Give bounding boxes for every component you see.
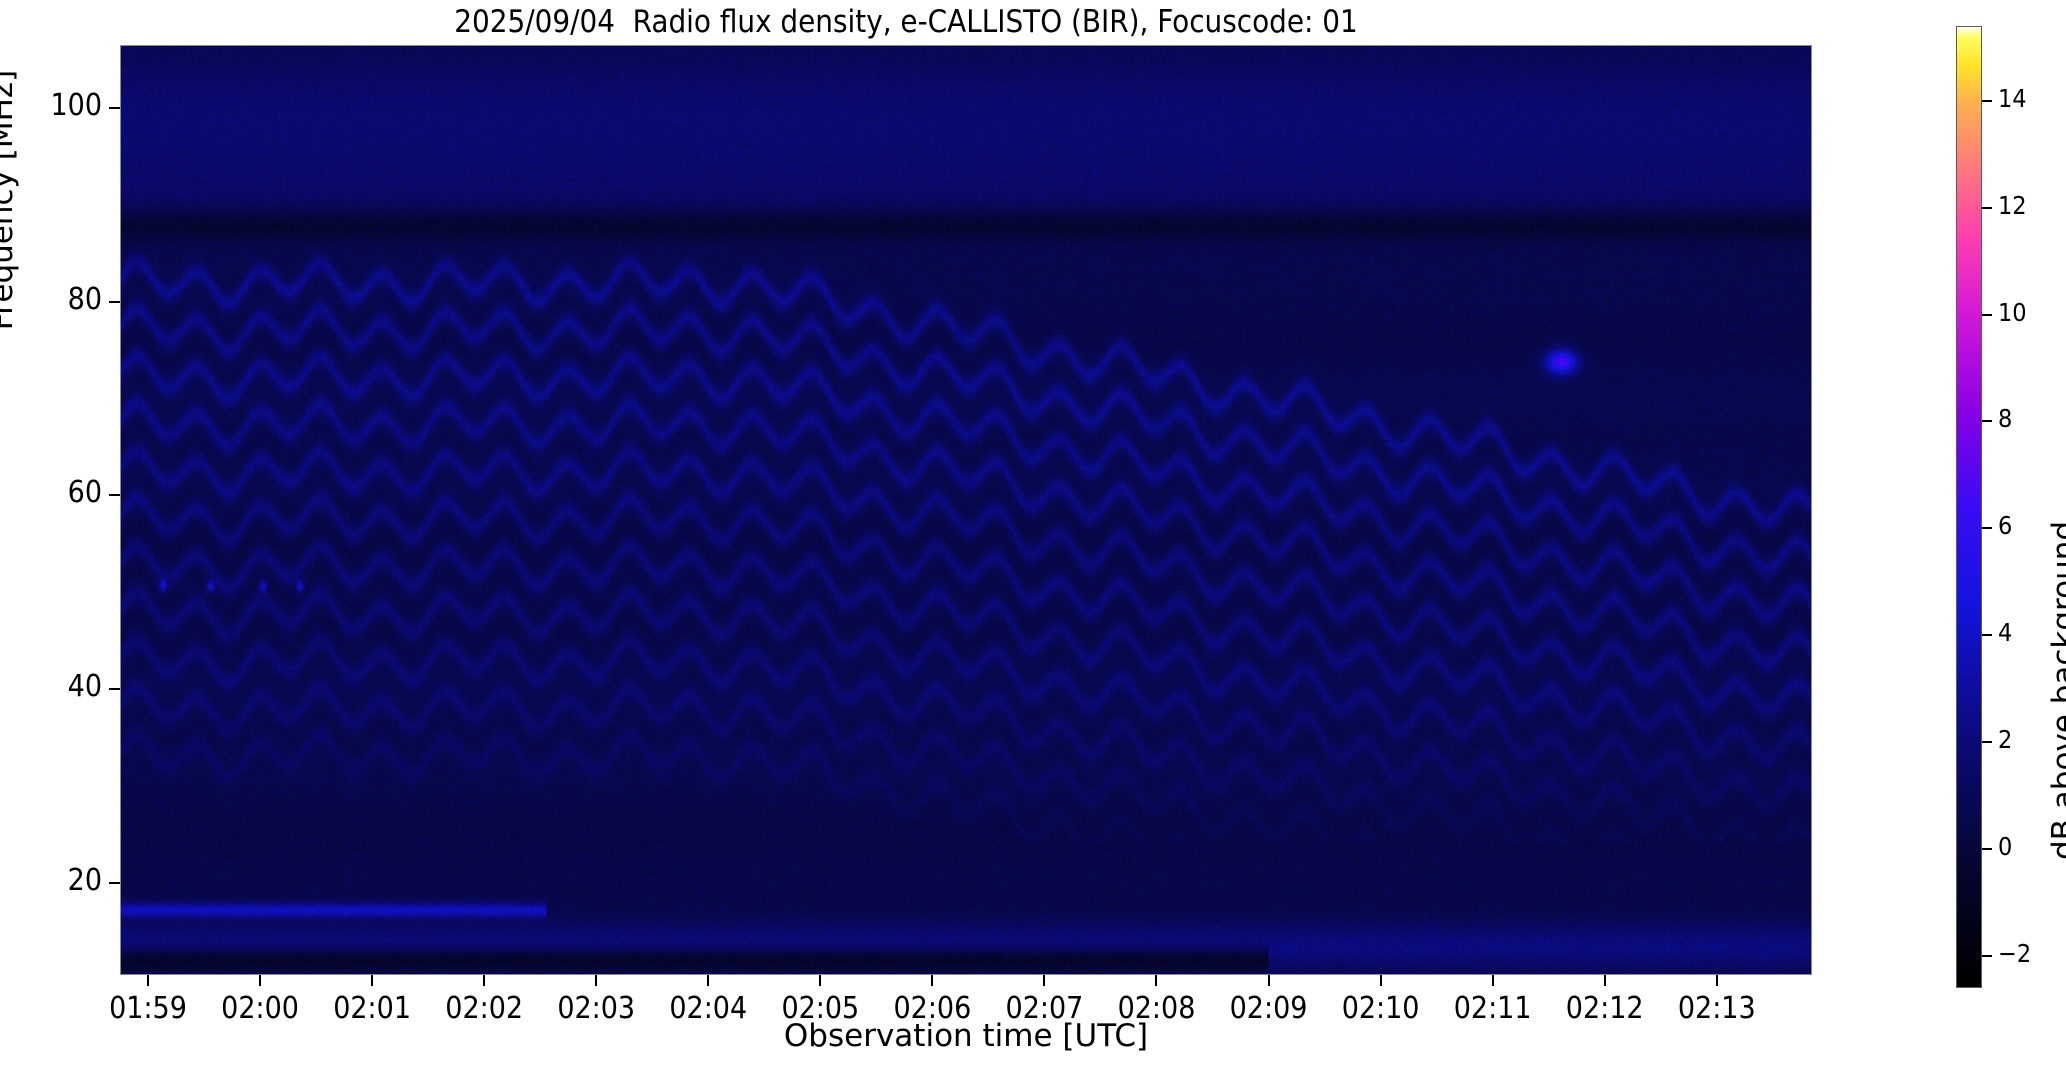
x-tick-mark	[595, 975, 597, 986]
colorbar-tick-mark	[1982, 207, 1992, 209]
colorbar-gradient	[1956, 26, 1982, 988]
x-tick-mark	[819, 975, 821, 986]
colorbar-label: dB above background	[2046, 0, 2066, 860]
x-tick-mark	[1155, 975, 1157, 986]
colorbar[interactable]	[1956, 26, 1982, 988]
y-tick-mark	[109, 301, 120, 303]
colorbar-tick-label: 6	[1998, 511, 2012, 540]
y-tick-mark	[109, 494, 120, 496]
colorbar-tick-mark	[1982, 634, 1992, 636]
y-tick-mark	[109, 107, 120, 109]
x-tick-mark	[1268, 975, 1270, 986]
colorbar-tick-label: 0	[1998, 832, 2012, 861]
colorbar-tick-label: 10	[1998, 298, 2027, 327]
colorbar-tick-mark	[1982, 100, 1992, 102]
x-tick-mark	[1380, 975, 1382, 986]
x-tick-mark	[707, 975, 709, 986]
page-title: 2025/09/04 Radio flux density, e-CALLIST…	[0, 4, 1812, 40]
colorbar-tick-mark	[1982, 527, 1992, 529]
x-tick-mark	[483, 975, 485, 986]
colorbar-tick-mark	[1982, 420, 1992, 422]
spectrogram-image	[121, 46, 1811, 974]
figure-root: 2025/09/04 Radio flux density, e-CALLIST…	[0, 0, 2066, 1067]
x-tick-mark	[371, 975, 373, 986]
colorbar-tick-mark	[1982, 955, 1992, 957]
x-tick-mark	[931, 975, 933, 986]
x-tick-mark	[1716, 975, 1718, 986]
spectrogram-axes[interactable]	[120, 45, 1812, 975]
x-tick-mark	[1492, 975, 1494, 986]
y-tick-label: 40	[0, 669, 102, 704]
x-tick-mark	[1604, 975, 1606, 986]
colorbar-tick-mark	[1982, 848, 1992, 850]
colorbar-tick-mark	[1982, 741, 1992, 743]
y-tick-label: 20	[0, 863, 102, 898]
colorbar-tick-label: −2	[1998, 939, 2031, 968]
x-axis-label: Observation time [UTC]	[120, 1018, 1812, 1054]
y-tick-label: 60	[0, 475, 102, 510]
y-tick-mark	[109, 882, 120, 884]
colorbar-tick-label: 12	[1998, 191, 2027, 220]
x-tick-mark	[259, 975, 261, 986]
x-tick-mark	[147, 975, 149, 986]
colorbar-tick-mark	[1982, 314, 1992, 316]
colorbar-tick-label: 4	[1998, 618, 2012, 647]
x-tick-mark	[1043, 975, 1045, 986]
y-tick-mark	[109, 688, 120, 690]
y-axis-label: Frequency [MHz]	[0, 0, 20, 400]
colorbar-tick-label: 2	[1998, 725, 2012, 754]
colorbar-tick-label: 14	[1998, 84, 2027, 113]
colorbar-tick-label: 8	[1998, 404, 2012, 433]
